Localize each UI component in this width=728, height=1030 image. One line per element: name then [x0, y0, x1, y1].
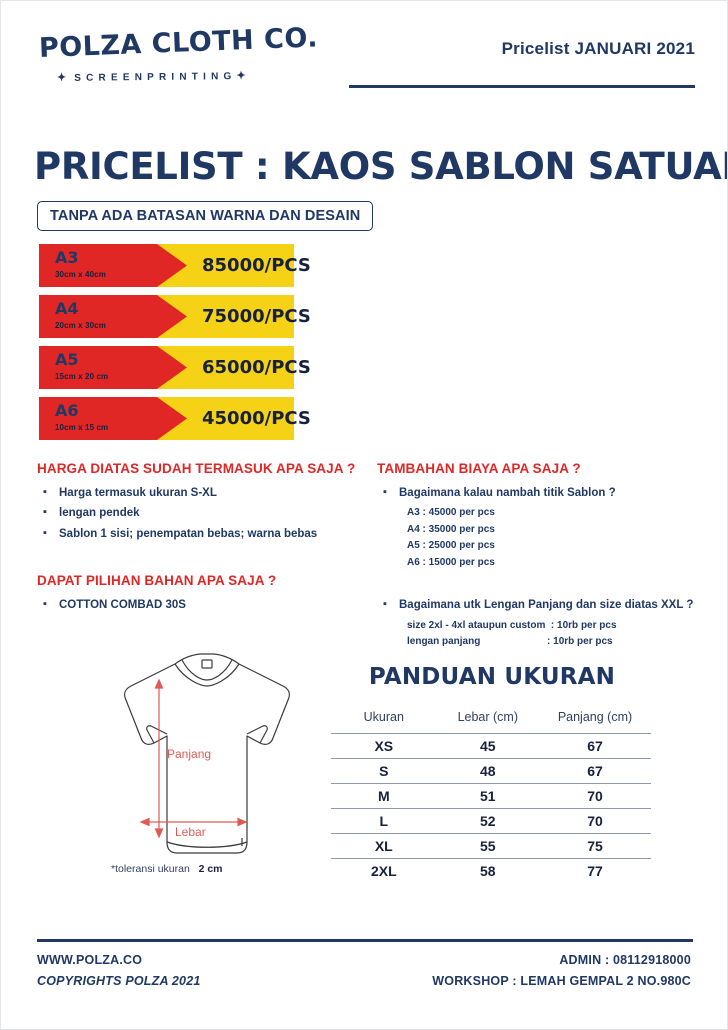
- info-bullet: ▪ lengan pendek: [37, 506, 367, 520]
- column-header-width: Lebar (cm): [437, 707, 539, 734]
- info-subline: A3 : 45000 per pcs: [377, 506, 712, 520]
- info-heading-included: HARGA DIATAS SUDAH TERMASUK APA SAJA ?: [37, 461, 367, 476]
- cell-width: 45: [437, 734, 539, 759]
- info-subline: A4 : 35000 per pcs: [377, 523, 712, 537]
- info-subline: lengan panjang : 10rb per pcs: [377, 635, 712, 649]
- cell-size: S: [331, 759, 437, 784]
- info-bullet-text: COTTON COMBAD 30S: [59, 599, 186, 611]
- cell-size: L: [331, 809, 437, 834]
- table-row: L 52 70: [331, 809, 651, 834]
- info-bullet-text: Harga termasuk ukuran S-XL: [59, 487, 217, 499]
- header-period-title: Pricelist JANUARI 2021: [355, 39, 695, 59]
- footer-admin-contact: ADMIN : 08112918000: [331, 953, 691, 967]
- pricelist-page: POLZA CLOTH CO. ✦ SCREENPRINTING✦ Pricel…: [0, 0, 728, 1030]
- bullet-dot-icon: ▪: [43, 506, 47, 520]
- info-bullet-text: Bagaimana kalau nambah titik Sablon ?: [399, 487, 616, 499]
- price-dimension-label: 30cm x 40cm: [55, 270, 106, 279]
- price-amount-label: 85000/PCS: [202, 255, 311, 276]
- info-bullet: ▪ Bagaimana utk Lengan Panjang dan size …: [377, 598, 712, 612]
- price-size-label: A6: [55, 401, 79, 420]
- price-dimension-label: 20cm x 30cm: [55, 321, 106, 330]
- bullet-dot-icon: ▪: [43, 527, 47, 541]
- price-size-label: A4: [55, 299, 79, 318]
- table-row: S 48 67: [331, 759, 651, 784]
- table-row: 2XL 58 77: [331, 859, 651, 884]
- footer-right: ADMIN : 08112918000 WORKSHOP : LEMAH GEM…: [331, 953, 691, 988]
- footer-website[interactable]: WWW.POLZA.CO: [37, 953, 367, 967]
- cell-width: 52: [437, 809, 539, 834]
- cell-width: 51: [437, 784, 539, 809]
- price-amount-label: 65000/PCS: [202, 357, 311, 378]
- table-row: XS 45 67: [331, 734, 651, 759]
- star-icon-left: ✦: [57, 72, 66, 84]
- info-bullet-text: lengan pendek: [59, 507, 140, 519]
- brand-tagline-text: SCREENPRINTING: [74, 71, 236, 84]
- footer-divider: [37, 939, 693, 942]
- table-header-row: Ukuran Lebar (cm) Panjang (cm): [331, 707, 651, 734]
- info-bullet: ▪ Harga termasuk ukuran S-XL: [37, 486, 367, 500]
- cell-width: 55: [437, 834, 539, 859]
- cell-length: 77: [539, 859, 651, 884]
- info-subline: A6 : 15000 per pcs: [377, 556, 712, 570]
- price-amount-label: 45000/PCS: [202, 408, 311, 429]
- header-right: Pricelist JANUARI 2021: [355, 39, 695, 59]
- bullet-dot-icon: ▪: [383, 598, 387, 612]
- brand-tagline: ✦ SCREENPRINTING✦: [57, 69, 246, 84]
- price-dimension-label: 10cm x 15 cm: [55, 423, 108, 432]
- cell-length: 67: [539, 734, 651, 759]
- tshirt-diagram: Panjang Lebar: [97, 646, 317, 886]
- table-row: M 51 70: [331, 784, 651, 809]
- bullet-dot-icon: ▪: [43, 598, 47, 612]
- info-bullet: ▪ Bagaimana kalau nambah titik Sablon ?: [377, 486, 712, 500]
- price-row: A6 10cm x 15 cm 45000/PCS: [39, 397, 294, 440]
- cell-size: XS: [331, 734, 437, 759]
- cell-width: 48: [437, 759, 539, 784]
- price-dimension-label: 15cm x 20 cm: [55, 372, 108, 381]
- price-list: A3 30cm x 40cm 85000/PCS A4 20cm x 30cm …: [39, 244, 294, 448]
- cell-size: XL: [331, 834, 437, 859]
- bullet-dot-icon: ▪: [383, 486, 387, 500]
- price-row: A3 30cm x 40cm 85000/PCS: [39, 244, 294, 287]
- table-row: XL 55 75: [331, 834, 651, 859]
- cell-length: 70: [539, 784, 651, 809]
- cell-length: 67: [539, 759, 651, 784]
- brand-name: POLZA CLOTH CO.: [38, 22, 318, 64]
- price-size-label: A5: [55, 350, 79, 369]
- cell-width: 58: [437, 859, 539, 884]
- cell-size: M: [331, 784, 437, 809]
- info-bullet: ▪ Sablon 1 sisi; penempatan bebas; warna…: [37, 527, 367, 541]
- size-guide-title: PANDUAN UKURAN: [337, 664, 647, 690]
- bullet-dot-icon: ▪: [43, 486, 47, 500]
- footer-workshop-address: WORKSHOP : LEMAH GEMPAL 2 NO.980C: [331, 974, 691, 988]
- tolerance-value: 2 cm: [199, 863, 223, 875]
- brand-logo: POLZA CLOTH CO. ✦ SCREENPRINTING✦: [39, 29, 359, 99]
- footer-copyright: COPYRIGHTS POLZA 2021: [37, 974, 367, 988]
- info-subline: size 2xl - 4xl ataupun custom : 10rb per…: [377, 619, 712, 633]
- info-column-right: TAMBAHAN BIAYA APA SAJA ? ▪ Bagaimana ka…: [377, 461, 712, 652]
- cell-length: 70: [539, 809, 651, 834]
- info-heading-extra-cost: TAMBAHAN BIAYA APA SAJA ?: [377, 461, 712, 476]
- page-title: PRICELIST : KAOS SABLON SATUAN: [34, 145, 728, 188]
- cell-size: 2XL: [331, 859, 437, 884]
- price-row: A5 15cm x 20 cm 65000/PCS: [39, 346, 294, 389]
- subtitle-badge: TANPA ADA BATASAN WARNA DAN DESAIN: [37, 201, 373, 231]
- price-amount-label: 75000/PCS: [202, 306, 311, 327]
- footer-left: WWW.POLZA.CO COPYRIGHTS POLZA 2021: [37, 953, 367, 988]
- column-header-length: Panjang (cm): [539, 707, 651, 734]
- info-bullet-text: Bagaimana utk Lengan Panjang dan size di…: [399, 599, 693, 611]
- tshirt-svg: Panjang Lebar: [97, 646, 317, 886]
- info-heading-materials: DAPAT PILIHAN BAHAN APA SAJA ?: [37, 573, 367, 588]
- cell-length: 75: [539, 834, 651, 859]
- spacer: [377, 572, 712, 598]
- info-bullet-text: Sablon 1 sisi; penempatan bebas; warna b…: [59, 528, 317, 540]
- shirt-width-label: Lebar: [175, 825, 206, 839]
- header-divider: [349, 85, 695, 88]
- page-header: POLZA CLOTH CO. ✦ SCREENPRINTING✦ Pricel…: [1, 29, 728, 101]
- column-header-size: Ukuran: [331, 707, 437, 734]
- info-subline: A5 : 25000 per pcs: [377, 539, 712, 553]
- price-size-label: A3: [55, 248, 79, 267]
- size-guide-table: Ukuran Lebar (cm) Panjang (cm) XS 45 67 …: [331, 707, 651, 883]
- star-icon-right: ✦: [236, 70, 245, 82]
- info-bullet: ▪ COTTON COMBAD 30S: [37, 598, 367, 612]
- shirt-length-label: Panjang: [167, 747, 211, 761]
- tolerance-note: *toleransi ukuran 2 cm: [111, 863, 223, 875]
- tolerance-label: *toleransi ukuran: [111, 863, 190, 875]
- info-column-left: HARGA DIATAS SUDAH TERMASUK APA SAJA ? ▪…: [37, 461, 367, 619]
- price-row: A4 20cm x 30cm 75000/PCS: [39, 295, 294, 338]
